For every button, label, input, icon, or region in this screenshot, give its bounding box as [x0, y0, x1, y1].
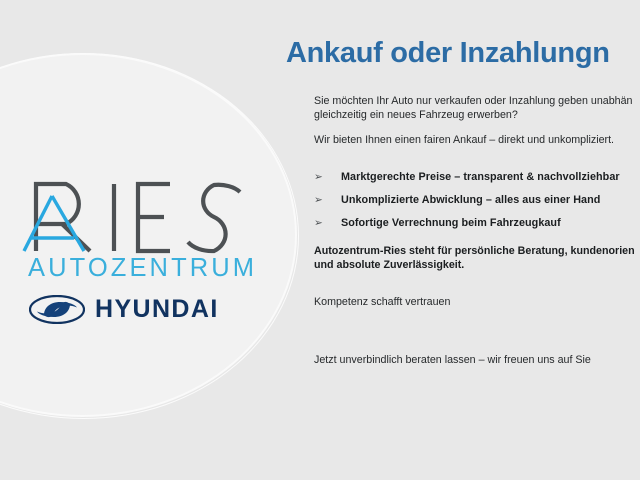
claim-line-1: Autozentrum-Ries steht für persönliche B… — [314, 245, 640, 259]
brand-logo-block: AUTOZENTRUM HYUNDAI — [18, 172, 268, 324]
arrow-bullet-icon: ➢ — [314, 218, 341, 229]
claim-paragraph: Autozentrum-Ries steht für persönliche B… — [314, 245, 640, 273]
offer-paragraph: Wir bieten Ihnen einen fairen Ankauf – d… — [314, 134, 640, 148]
arrow-bullet-icon: ➢ — [314, 195, 341, 206]
list-item: ➢ Unkomplizierte Abwicklung – alles aus … — [314, 194, 640, 206]
intro-line-1: Sie möchten Ihr Auto nur verkaufen oder … — [314, 95, 640, 109]
list-item: ➢ Marktgerechte Preise – transparent & n… — [314, 171, 640, 183]
hyundai-wordmark: HYUNDAI — [95, 297, 219, 322]
brand-subtitle: AUTOZENTRUM — [18, 256, 268, 282]
page-title: Ankauf oder Inzahlungn — [286, 38, 640, 70]
list-item: ➢ Sofortige Verrechnung beim Fahrzeugkau… — [314, 217, 640, 229]
hyundai-emblem-icon — [29, 295, 85, 324]
benefits-list: ➢ Marktgerechte Preise – transparent & n… — [314, 171, 640, 229]
hyundai-partner-logo: HYUNDAI — [18, 295, 268, 324]
benefit-label: Marktgerechte Preise – transparent & nac… — [341, 171, 620, 183]
intro-line-2: gleichzeitig ein neues Fahrzeug erwerben… — [314, 109, 640, 123]
arrow-bullet-icon: ➢ — [314, 172, 341, 183]
benefit-label: Sofortige Verrechnung beim Fahrzeugkauf — [341, 217, 561, 229]
content-column: Ankauf oder Inzahlungn Sie möchten Ihr A… — [286, 38, 640, 368]
call-to-action-text: Jetzt unverbindlich beraten lassen – wir… — [314, 354, 640, 368]
tagline-text: Kompetenz schafft vertrauen — [314, 296, 640, 310]
intro-paragraph: Sie möchten Ihr Auto nur verkaufen oder … — [314, 95, 640, 122]
ries-logotype-icon — [18, 172, 260, 254]
ries-wordmark — [18, 172, 260, 254]
slide-canvas: AUTOZENTRUM HYUNDAI Ankauf oder Inzahlun… — [0, 0, 640, 480]
claim-line-2: und absolute Zuverlässigkeit. — [314, 259, 640, 273]
body-text-block: Sie möchten Ihr Auto nur verkaufen oder … — [314, 95, 640, 368]
benefit-label: Unkomplizierte Abwicklung – alles aus ei… — [341, 194, 600, 206]
